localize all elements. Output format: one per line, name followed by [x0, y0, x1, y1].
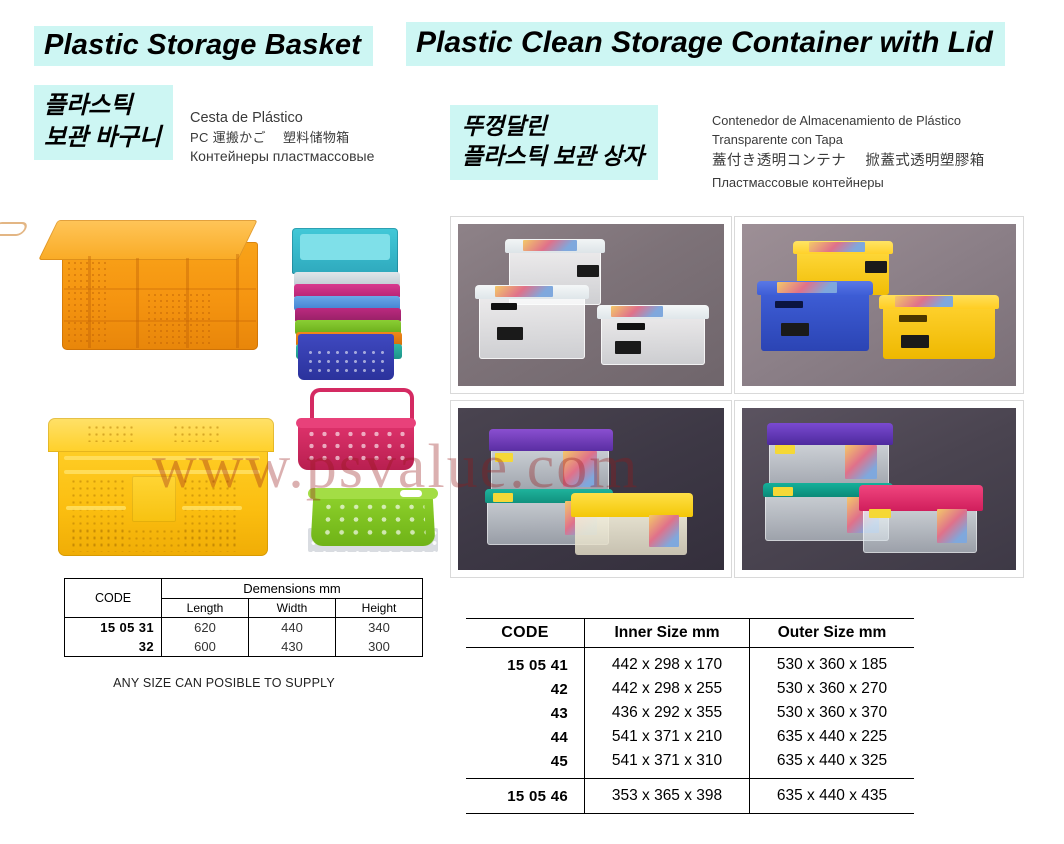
cell-inner-size: 442 x 298 x 255	[585, 677, 750, 701]
right-desc-russian: Пластмассовые контейнеры	[712, 174, 985, 193]
left-product-images	[40, 210, 445, 570]
cell-width: 430	[249, 637, 336, 657]
th-code: CODE	[466, 619, 585, 648]
left-table-note: ANY SIZE CAN POSIBLE TO SUPPLY	[64, 676, 384, 690]
cell-outer-size: 635 x 440 x 435	[750, 779, 915, 814]
right-spec-table: CODE Inner Size mm Outer Size mm 15 05 4…	[466, 618, 914, 814]
left-desc-spanish: Cesta de Plástico	[190, 108, 374, 129]
cell-inner-size: 436 x 292 x 355	[585, 701, 750, 725]
cell-code: 44	[466, 725, 585, 749]
cell-height: 300	[336, 637, 423, 657]
left-section-descriptions: Cesta de Plástico PC 運搬かご 塑料储物箱 Контейне…	[190, 108, 374, 167]
table-row: 32 600 430 300	[65, 637, 423, 657]
right-korean-line-1: 뚜껑달린	[462, 111, 644, 141]
cell-outer-size: 530 x 360 x 270	[750, 677, 915, 701]
colored-basket-stack-image	[292, 228, 404, 380]
cell-outer-size: 635 x 440 x 325	[750, 749, 915, 779]
cell-code: 42	[466, 677, 585, 701]
cell-code: 15 05 41	[466, 648, 585, 678]
table-row: 43 436 x 292 x 355 530 x 360 x 370	[466, 701, 914, 725]
photo-yellow-blue-containers	[734, 216, 1024, 394]
table-row: 15 05 41 442 x 298 x 170 530 x 360 x 185	[466, 648, 914, 678]
right-section-korean-title: 뚜껑달린 플라스틱 보관 상자	[450, 105, 658, 180]
left-korean-line-2: 보관 바구니	[44, 122, 161, 154]
cell-length: 620	[162, 618, 249, 638]
cell-width: 440	[249, 618, 336, 638]
cell-outer-size: 530 x 360 x 370	[750, 701, 915, 725]
table-row: 44 541 x 371 x 210 635 x 440 x 225	[466, 725, 914, 749]
left-section-korean-title: 플라스틱 보관 바구니	[34, 85, 173, 160]
cell-inner-size: 541 x 371 x 310	[585, 749, 750, 779]
cell-height: 340	[336, 618, 423, 638]
right-section-descriptions: Contenedor de Almacenamiento de Plástico…	[712, 112, 985, 193]
right-section-title: Plastic Clean Storage Container with Lid	[406, 22, 1005, 66]
green-basket-image	[308, 486, 438, 552]
table-row: 42 442 x 298 x 255 530 x 360 x 270	[466, 677, 914, 701]
cell-code: 15 05 46	[466, 779, 585, 814]
table-header-row: CODE Inner Size mm Outer Size mm	[466, 619, 914, 648]
left-desc-japanese-chinese: PC 運搬かご 塑料储物箱	[190, 129, 374, 147]
left-table: CODE Demensions mm Length Width Height 1…	[64, 578, 423, 657]
left-section-title: Plastic Storage Basket	[34, 26, 373, 66]
left-desc-russian: Контейнеры пластмассовые	[190, 147, 374, 167]
table-header-row: CODE Demensions mm	[65, 579, 423, 599]
pink-handled-basket-image	[296, 388, 416, 472]
right-desc-spanish-2: Transparente con Tapa	[712, 131, 985, 150]
cell-code: 32	[65, 637, 162, 657]
cell-inner-size: 541 x 371 x 210	[585, 725, 750, 749]
photo-purple-teal-yellow-containers	[450, 400, 732, 578]
th-length: Length	[162, 599, 249, 618]
table-row-last: 15 05 46 353 x 365 x 398 635 x 440 x 435	[466, 779, 914, 814]
table-row: 15 05 31 620 440 340	[65, 618, 423, 638]
th-outer-size: Outer Size mm	[750, 619, 915, 648]
th-inner-size: Inner Size mm	[585, 619, 750, 648]
cell-code: 43	[466, 701, 585, 725]
cell-outer-size: 530 x 360 x 185	[750, 648, 915, 678]
right-table: CODE Inner Size mm Outer Size mm 15 05 4…	[466, 618, 914, 814]
right-desc-japanese-chinese: 蓋付き透明コンテナ 掀蓋式透明塑膠箱	[712, 151, 985, 172]
th-dimensions: Demensions mm	[162, 579, 423, 599]
table-row: 45 541 x 371 x 310 635 x 440 x 325	[466, 749, 914, 779]
left-korean-line-1: 플라스틱	[44, 90, 161, 122]
photo-clear-containers	[450, 216, 732, 394]
th-height: Height	[336, 599, 423, 618]
cell-length: 600	[162, 637, 249, 657]
product-photo-grid	[450, 216, 1022, 578]
th-code: CODE	[65, 579, 162, 618]
right-desc-spanish-1: Contenedor de Almacenamiento de Plástico	[712, 112, 985, 131]
cell-code: 15 05 31	[65, 618, 162, 638]
cell-code: 45	[466, 749, 585, 779]
left-spec-table: CODE Demensions mm Length Width Height 1…	[64, 578, 423, 657]
right-korean-line-2: 플라스틱 보관 상자	[462, 141, 644, 171]
th-width: Width	[249, 599, 336, 618]
cell-outer-size: 635 x 440 x 225	[750, 725, 915, 749]
cell-inner-size: 442 x 298 x 170	[585, 648, 750, 678]
photo-purple-teal-pink-containers	[734, 400, 1024, 578]
cell-inner-size: 353 x 365 x 398	[585, 779, 750, 814]
